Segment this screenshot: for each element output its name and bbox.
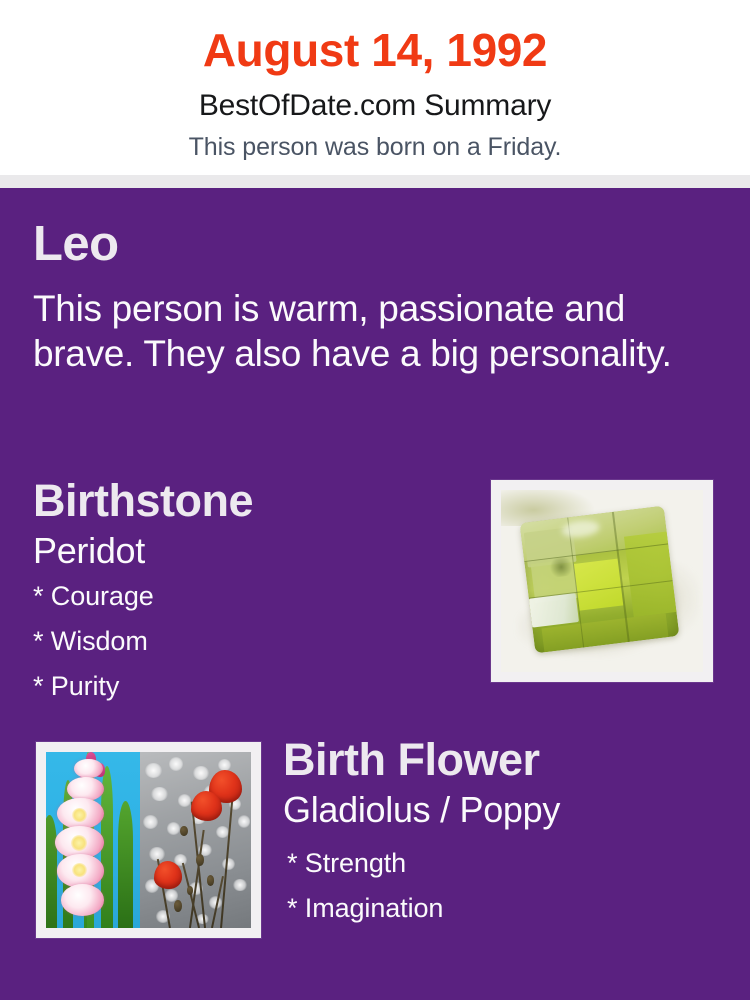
birthstone-image-frame [491,480,713,682]
header-divider [0,175,750,188]
list-item: * Strength [287,850,723,877]
birthstone-traits-list: * Courage * Wisdom * Purity [33,583,463,700]
birthstone-name: Peridot [33,533,463,569]
birthstone-section: Birthstone Peridot * Courage * Wisdom * … [33,478,463,718]
gladiolus-photo-half [46,752,140,928]
peridot-gemstone-image [501,490,703,672]
birth-flower-name: Gladiolus / Poppy [283,792,723,828]
page-title: August 14, 1992 [0,0,750,73]
zodiac-description: This person is warm, passionate and brav… [33,286,683,376]
born-day-text: This person was born on a Friday. [0,121,750,160]
list-item: * Courage [33,583,463,610]
list-item: * Purity [33,673,463,700]
birth-flower-section: Birth Flower Gladiolus / Poppy * Strengt… [283,737,723,940]
bestofdate-summary-card: August 14, 1992 BestOfDate.com Summary T… [0,0,750,1000]
birth-flower-traits-list: * Strength * Imagination [287,850,723,922]
birthstone-heading: Birthstone [33,478,463,523]
zodiac-sign-heading: Leo [33,220,693,269]
zodiac-section: Leo This person is warm, passionate and … [33,220,693,376]
gladiolus-poppy-image [46,752,251,928]
gem-shape [520,505,680,653]
birth-flower-heading: Birth Flower [283,737,723,782]
list-item: * Wisdom [33,628,463,655]
card-header: August 14, 1992 BestOfDate.com Summary T… [0,0,750,175]
site-summary-label: BestOfDate.com Summary [0,73,750,121]
summary-body: Leo This person is warm, passionate and … [0,188,750,1000]
birth-flower-image-frame [36,742,261,938]
poppy-photo-half [140,752,251,928]
list-item: * Imagination [287,895,723,922]
